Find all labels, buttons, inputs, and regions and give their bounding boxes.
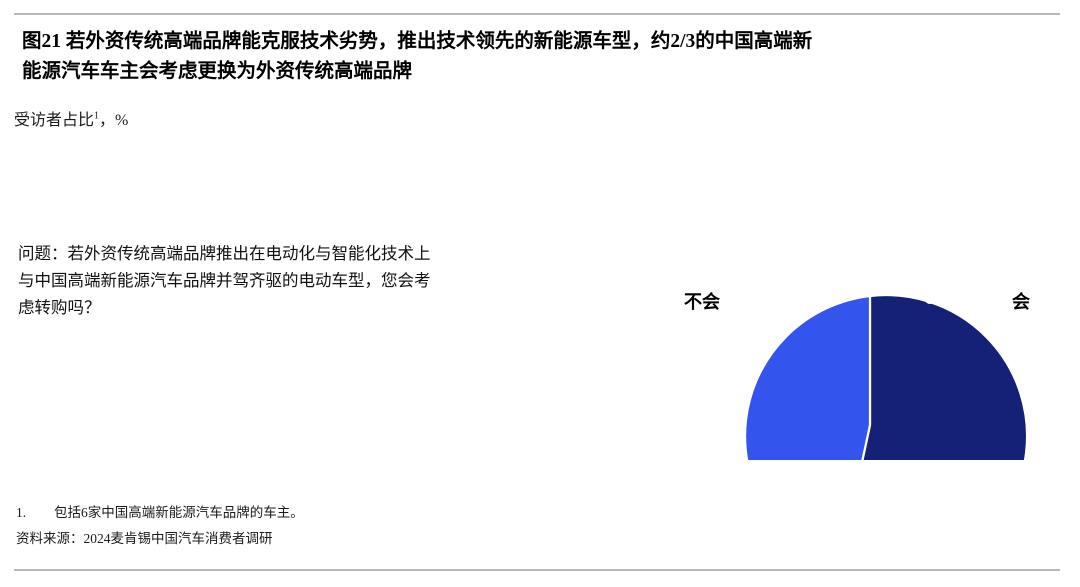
- pie-label-no-value: 37: [731, 286, 754, 310]
- top-divider-rule: [14, 13, 1060, 15]
- pie-label-yes-name: 会: [1012, 288, 1030, 314]
- footnote-row: 1. 包括6家中国高端新能源汽车品牌的车主。: [16, 500, 304, 525]
- figure-subtitle: 受访者占比1，%: [14, 110, 128, 132]
- figure-title: 图21 若外资传统高端品牌能克服技术劣势，推出技术领先的新能源车型，约2/3的中…: [22, 27, 1062, 87]
- figure-title-line-1: 图21 若外资传统高端品牌能克服技术劣势，推出技术领先的新能源车型，约2/3的中…: [22, 27, 1062, 57]
- figure-page: 图21 若外资传统高端品牌能克服技术劣势，推出技术领先的新能源车型，约2/3的中…: [0, 0, 1080, 587]
- subtitle-unit: ，%: [99, 112, 128, 129]
- survey-question-block: 问题：若外资传统高端品牌推出在电动化与智能化技术上 与中国高端新能源汽车品牌并驾…: [18, 240, 598, 321]
- survey-question-line-1: 问题：若外资传统高端品牌推出在电动化与智能化技术上: [18, 240, 598, 267]
- footnote-number: 1.: [16, 500, 54, 525]
- survey-question-line-3: 虑转购吗？: [18, 294, 598, 321]
- source-text: 资料来源：2024麦肯锡中国汽车消费者调研: [16, 526, 273, 551]
- pie-chart: 不会 37 63 会: [700, 140, 1060, 460]
- survey-question-line-2: 与中国高端新能源汽车品牌并驾齐驱的电动车型，您会考: [18, 267, 598, 294]
- source-row: 资料来源：2024麦肯锡中国汽车消费者调研: [16, 526, 304, 551]
- figure-title-line-2: 能源汽车车主会考虑更换为外资传统高端品牌: [22, 57, 1062, 87]
- pie-label-yes-value: 63: [924, 286, 947, 310]
- pie-slice-no[interactable]: [745, 296, 870, 460]
- footnote-text: 包括6家中国高端新能源汽车品牌的车主。: [54, 500, 304, 525]
- pie-label-no-name: 不会: [684, 288, 720, 314]
- bottom-divider-rule: [14, 569, 1060, 571]
- footnotes-block: 1. 包括6家中国高端新能源汽车品牌的车主。 资料来源：2024麦肯锡中国汽车消…: [16, 500, 304, 551]
- subtitle-text: 受访者占比: [14, 112, 94, 129]
